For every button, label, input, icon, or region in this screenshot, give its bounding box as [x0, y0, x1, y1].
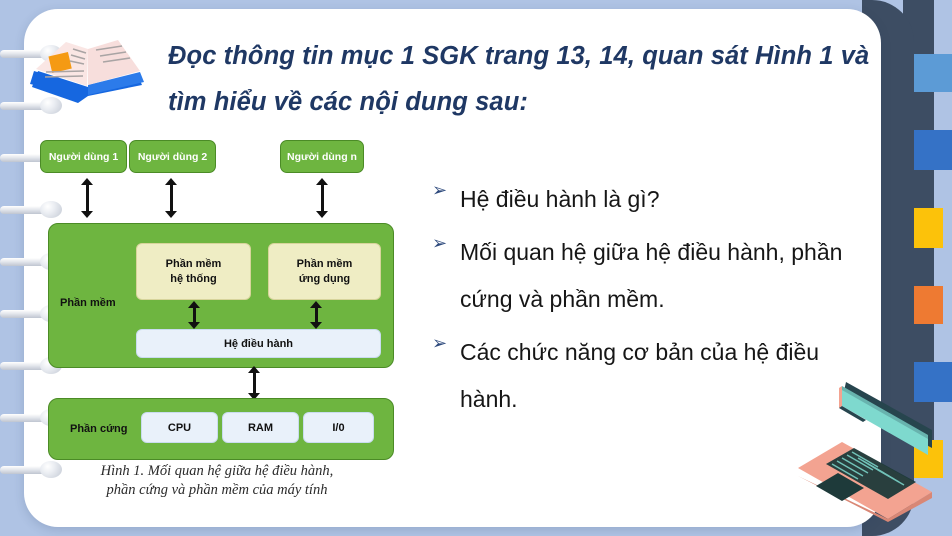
hardware-section-label: Phần cứng	[70, 423, 127, 435]
user-box-n: Người dùng n	[280, 140, 364, 173]
application-software-line-2: ứng dụng	[297, 272, 353, 287]
arrow-os-hardware	[248, 366, 261, 400]
system-software-line-1: Phần mềm	[166, 257, 222, 272]
system-software-box: Phần mềm hệ thống	[136, 243, 251, 300]
bullet-item-1: ➢ Hệ điều hành là gì?	[432, 176, 862, 223]
software-section-label: Phần mềm	[60, 297, 116, 309]
user-box-1: Người dùng 1	[40, 140, 127, 173]
arrow-system-software-os	[188, 301, 201, 329]
hardware-box-io: I/0	[303, 412, 374, 443]
hardware-box-ram-label: RAM	[248, 422, 273, 434]
hardware-box-io-label: I/0	[332, 422, 344, 434]
user-box-1-label: Người dùng 1	[49, 151, 118, 163]
system-software-line-2: hệ thống	[166, 272, 222, 287]
user-box-n-label: Người dùng n	[287, 151, 357, 163]
operating-system-box: Hệ điều hành	[136, 329, 381, 358]
bullet-item-1-text: Hệ điều hành là gì?	[460, 176, 862, 223]
user-box-2: Người dùng 2	[129, 140, 216, 173]
bullet-marker-icon: ➢	[432, 229, 460, 252]
figure-caption-line-2: phần cứng và phần mềm của máy tính	[52, 481, 382, 500]
application-software-line-1: Phần mềm	[297, 257, 353, 272]
title-line-2: tìm hiểu về các nội dung sau:	[168, 79, 874, 125]
bullet-item-2-text: Mối quan hệ giữa hệ điều hành, phần cứng…	[460, 229, 862, 323]
open-book-icon	[26, 27, 148, 109]
bullet-marker-icon: ➢	[432, 329, 460, 352]
operating-system-label: Hệ điều hành	[224, 338, 293, 350]
arrow-user2-software	[165, 178, 178, 218]
hardware-box-ram: RAM	[222, 412, 299, 443]
bullet-marker-icon: ➢	[432, 176, 460, 199]
arrow-user1-software	[81, 178, 94, 218]
page-title: Đọc thông tin mục 1 SGK trang 13, 14, qu…	[168, 33, 874, 125]
laptop-icon	[742, 372, 932, 522]
bullet-item-2: ➢ Mối quan hệ giữa hệ điều hành, phần cứ…	[432, 229, 862, 323]
arrow-usern-software	[316, 178, 329, 218]
user-box-2-label: Người dùng 2	[138, 151, 207, 163]
arrow-application-software-os	[310, 301, 323, 329]
os-relationship-diagram: Người dùng 1 Người dùng 2 Người dùng n P…	[40, 140, 412, 460]
application-software-box: Phần mềm ứng dụng	[268, 243, 381, 300]
hardware-box-cpu-label: CPU	[168, 422, 191, 434]
figure-caption: Hình 1. Mối quan hệ giữa hệ điều hành, p…	[52, 462, 382, 500]
hardware-box-cpu: CPU	[141, 412, 218, 443]
figure-caption-line-1: Hình 1. Mối quan hệ giữa hệ điều hành,	[52, 462, 382, 481]
title-line-1: Đọc thông tin mục 1 SGK trang 13, 14, qu…	[168, 33, 874, 79]
